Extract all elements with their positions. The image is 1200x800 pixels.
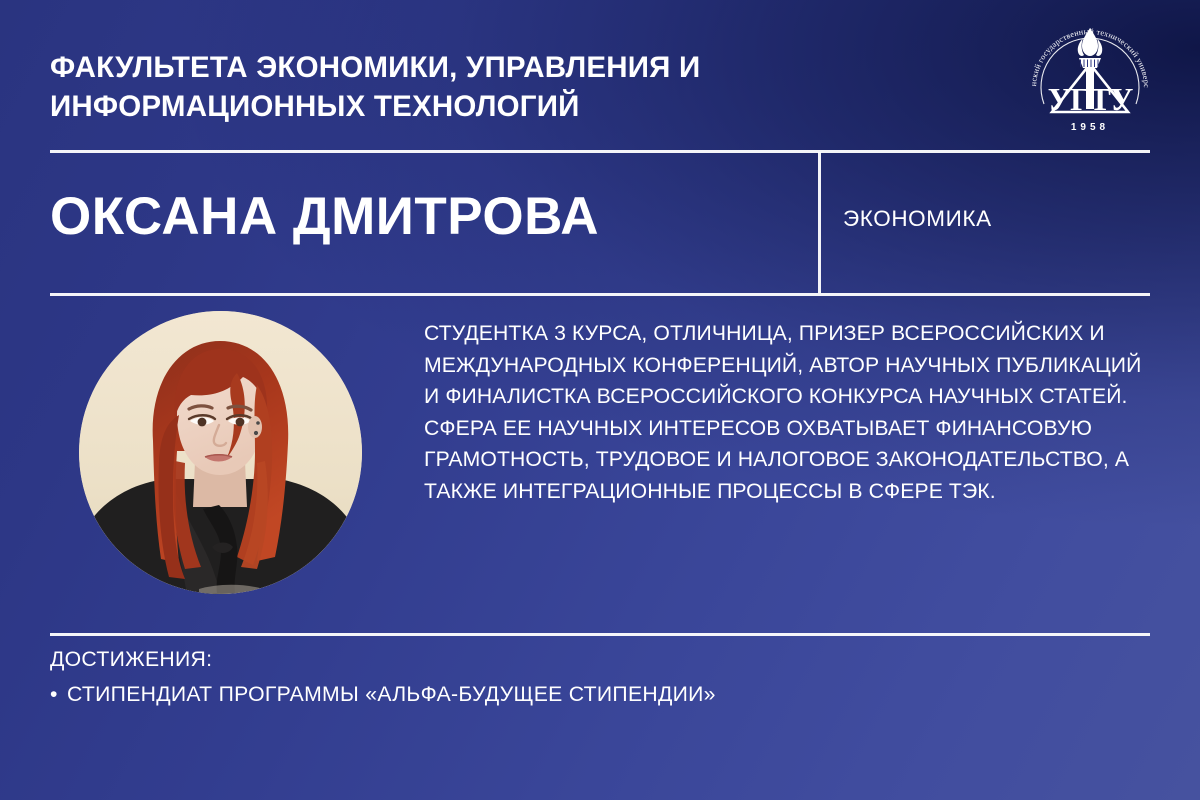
divider-middle [50,293,1150,296]
presentation-slide: Ухтинский государственный технический ун… [0,0,1200,800]
achievements-list: СТИПЕНДИАТ ПРОГРАММЫ «АЛЬФА-БУДУЩЕЕ СТИП… [50,680,716,710]
bio-text: СТУДЕНТКА 3 КУРСА, ОТЛИЧНИЦА, ПРИЗЕР ВСЕ… [424,318,1164,507]
university-logo: Ухтинский государственный технический ун… [1024,16,1156,148]
slide-content-layer: Ухтинский государственный технический ун… [0,0,1200,800]
specialty-label: ЭКОНОМИКА [843,204,992,234]
achievements-title: ДОСТИЖЕНИЯ: [50,648,212,672]
faculty-title: ФАКУЛЬТЕТА ЭКОНОМИКИ, УПРАВЛЕНИЯ И ИНФОР… [50,48,890,126]
portrait-photo [79,311,362,594]
divider-vertical [818,152,821,293]
logo-year: 1958 [1071,122,1109,133]
person-name: ОКСАНА ДМИТРОВА [50,186,599,248]
logo-acronym: УГТУ [1048,81,1133,117]
divider-bottom [50,633,1150,636]
achievement-item: СТИПЕНДИАТ ПРОГРАММЫ «АЛЬФА-БУДУЩЕЕ СТИП… [50,680,716,710]
divider-top [50,150,1150,153]
